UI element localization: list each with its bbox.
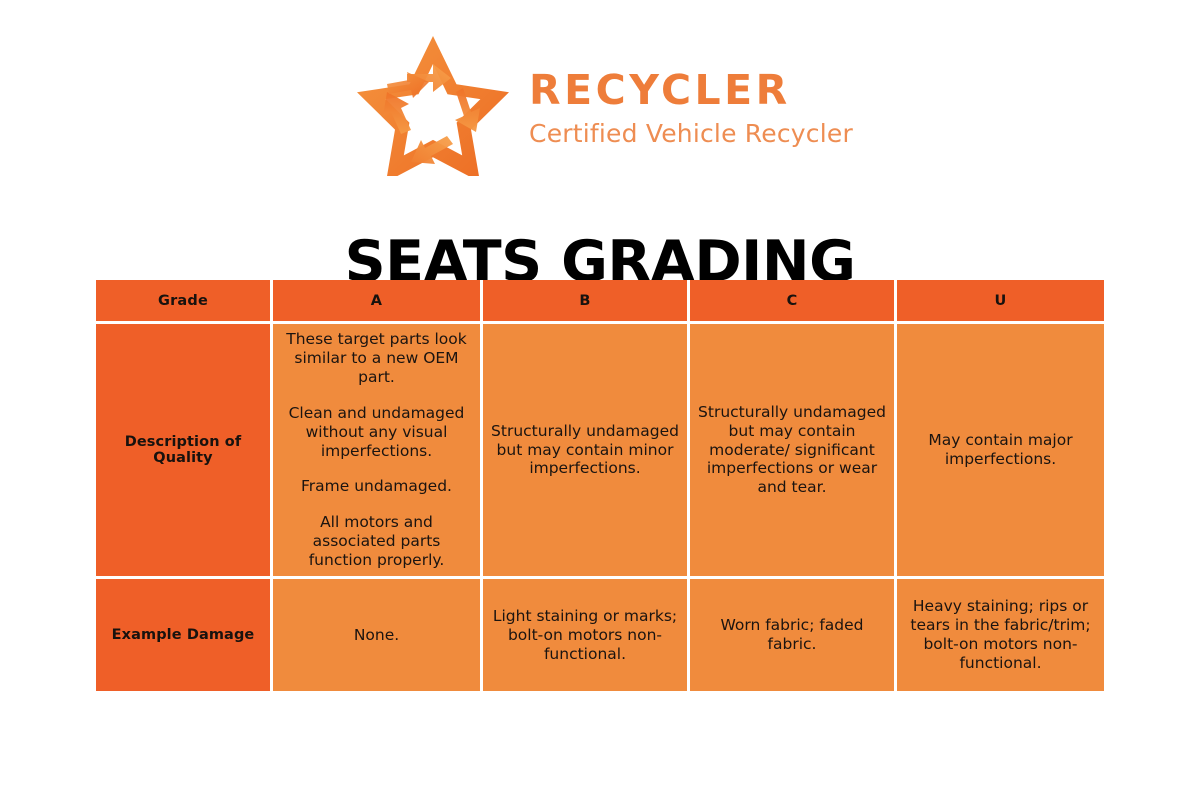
cell-paragraph: Heavy staining; rips or tears in the fab… <box>905 597 1096 673</box>
cell-paragraph: None. <box>281 626 472 645</box>
logo-tagline: Certified Vehicle Recycler <box>529 120 853 148</box>
cell-description-b: Structurally undamaged but may contain m… <box>483 324 690 579</box>
brand-logo: RECYCLER Certified Vehicle Recycler <box>0 30 1200 180</box>
logo-wordmark: RECYCLER <box>529 70 853 111</box>
recycling-star-icon <box>347 34 519 176</box>
row-label-description-of-quality: Description of Quality <box>96 324 273 579</box>
column-header-u: U <box>897 280 1104 324</box>
table-header: Grade A B C U <box>96 280 1104 324</box>
cell-paragraph: Structurally undamaged but may contain m… <box>491 422 679 479</box>
cell-paragraph: Light staining or marks; bolt-on motors … <box>491 607 679 664</box>
cell-description-a: These target parts look similar to a new… <box>273 324 483 579</box>
table-header-row: Grade A B C U <box>96 280 1104 324</box>
cell-damage-u: Heavy staining; rips or tears in the fab… <box>897 579 1104 691</box>
cell-paragraph: Clean and undamaged without any visual i… <box>281 404 472 461</box>
cell-paragraph: Frame undamaged. <box>281 477 472 496</box>
cell-paragraph: May contain major imperfections. <box>905 431 1096 469</box>
cell-description-u: May contain major imperfections. <box>897 324 1104 579</box>
seats-grading-table: Grade A B C U Description of Quality The… <box>96 280 1104 691</box>
table-body: Description of Quality These target part… <box>96 324 1104 691</box>
table-row: Description of Quality These target part… <box>96 324 1104 579</box>
cell-description-c: Structurally undamaged but may contain m… <box>690 324 897 579</box>
cell-paragraph: All motors and associated parts function… <box>281 513 472 570</box>
row-label-example-damage: Example Damage <box>96 579 273 691</box>
column-header-b: B <box>483 280 690 324</box>
cell-damage-a: None. <box>273 579 483 691</box>
logo-inner: RECYCLER Certified Vehicle Recycler <box>347 34 853 176</box>
column-header-a: A <box>273 280 483 324</box>
cell-paragraph: These target parts look similar to a new… <box>281 330 472 387</box>
cell-damage-b: Light staining or marks; bolt-on motors … <box>483 579 690 691</box>
column-header-c: C <box>690 280 897 324</box>
cell-paragraph: Structurally undamaged but may contain m… <box>698 403 886 498</box>
cell-paragraph: Worn fabric; faded fabric. <box>698 616 886 654</box>
cell-damage-c: Worn fabric; faded fabric. <box>690 579 897 691</box>
logo-text-group: RECYCLER Certified Vehicle Recycler <box>529 62 853 148</box>
table-row: Example Damage None. Light staining or m… <box>96 579 1104 691</box>
column-header-grade: Grade <box>96 280 273 324</box>
